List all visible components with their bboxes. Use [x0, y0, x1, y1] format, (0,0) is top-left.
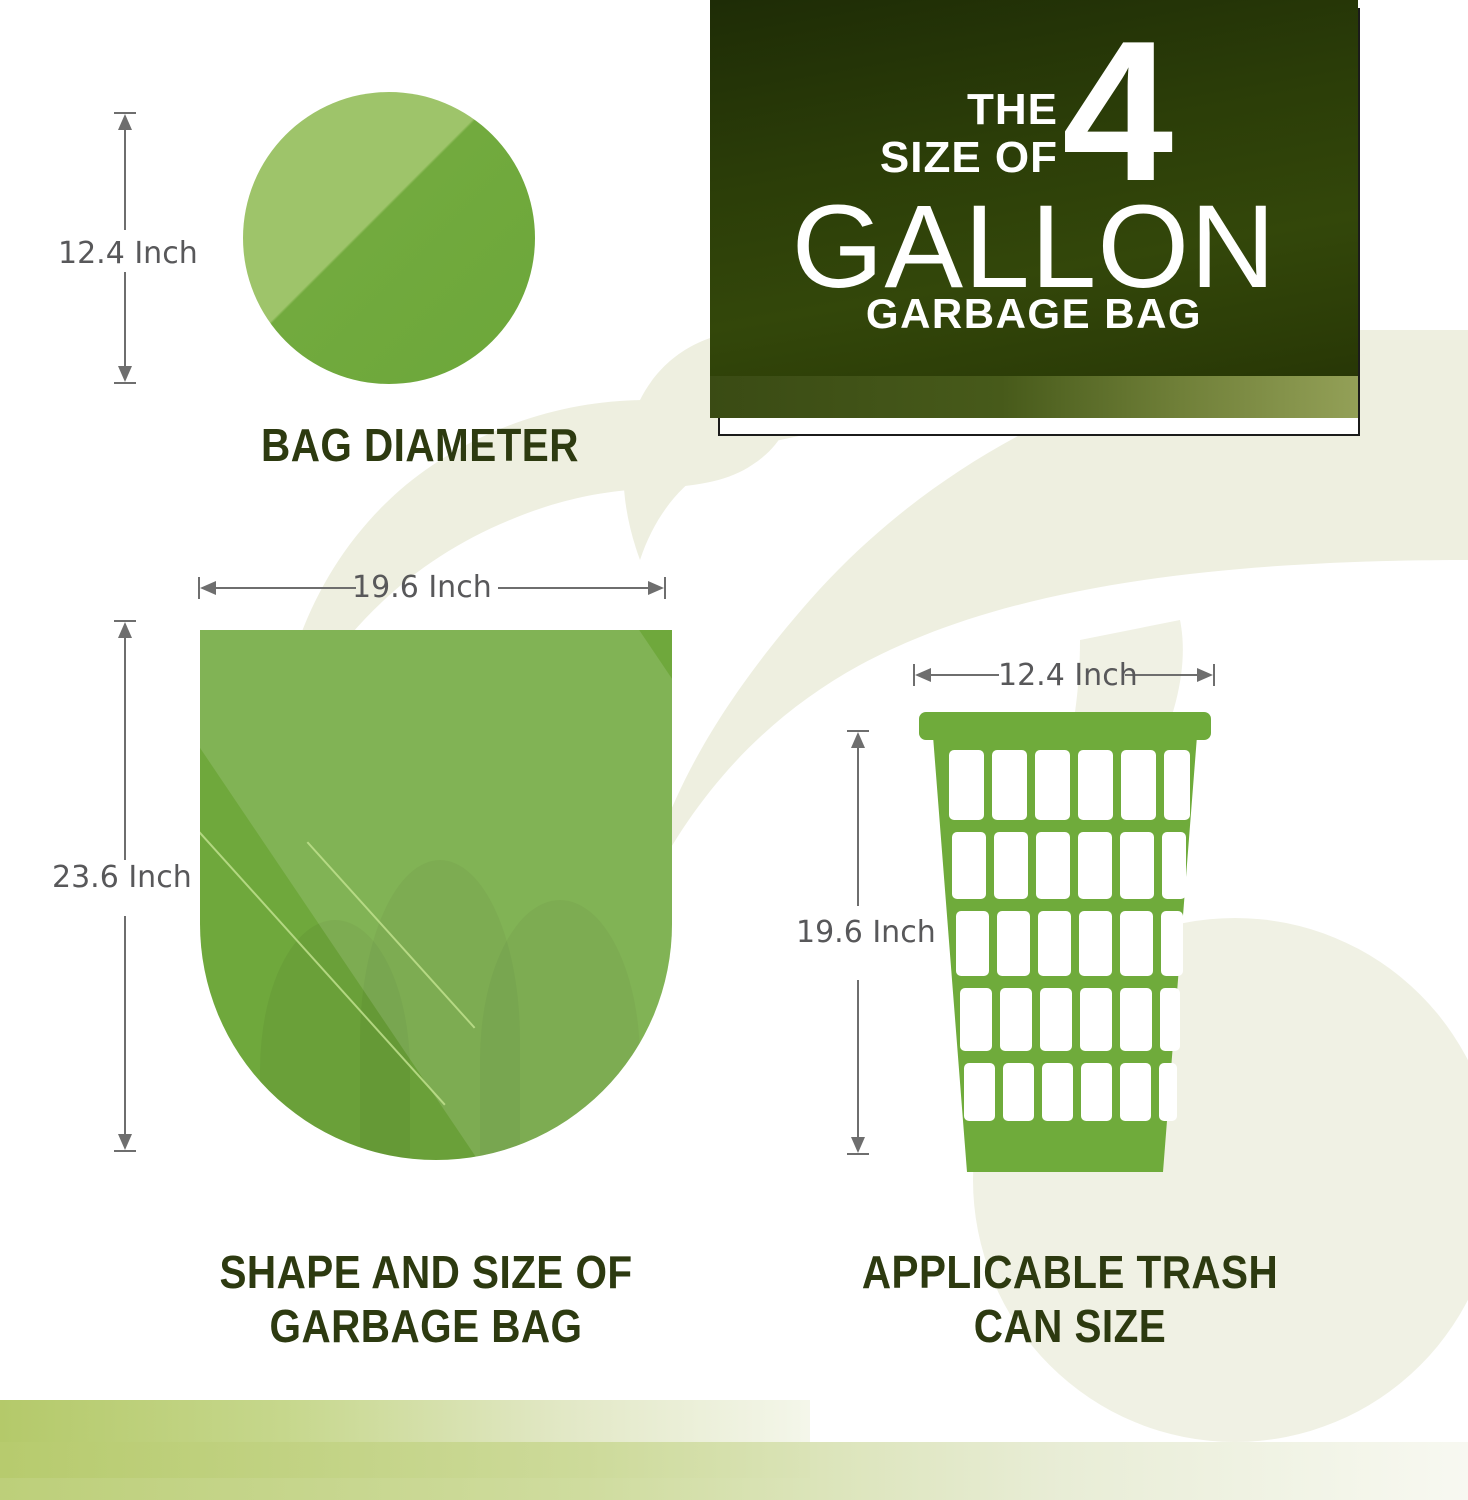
header-text-block: THE SIZE OF 4 GALLON GARBAGE BAG: [710, 0, 1358, 376]
bag-width-dimension-label: 19.6 Inch: [352, 570, 492, 605]
bag-diameter-dimension-label: 12.4 Inch: [58, 236, 198, 271]
trash-can-caption: APPLICABLE TRASH CAN SIZE: [824, 1245, 1317, 1354]
trash-can-body: [915, 736, 1215, 1172]
header-the-label: THE: [870, 88, 1058, 132]
header-bottom-gradient-strip: [710, 376, 1358, 418]
infographic-page: 12.4 Inch BAG DIAMETER 19.6 Inch 23.6 In…: [0, 0, 1468, 1500]
bag-diameter-caption: BAG DIAMETER: [156, 418, 684, 472]
trash-can-icon: [915, 712, 1215, 1172]
garbage-bag-caption-line1: SHAPE AND SIZE OF: [136, 1245, 717, 1299]
header-gallon-title: GALLON: [710, 188, 1358, 306]
header-garbage-bag-subtitle: GARBAGE BAG: [710, 290, 1358, 338]
bottom-gradient-bar-lower: [0, 1442, 1468, 1500]
trash-can-caption-line2: CAN SIZE: [824, 1299, 1317, 1353]
header-size-of-label: SIZE OF: [870, 136, 1058, 180]
trash-can-caption-line1: APPLICABLE TRASH: [824, 1245, 1317, 1299]
header-the-size-of: THE SIZE OF: [870, 88, 1058, 180]
bag-diameter-circle: [243, 92, 535, 384]
can-width-dimension-label: 12.4 Inch: [998, 658, 1138, 693]
garbage-bag-caption: SHAPE AND SIZE OF GARBAGE BAG: [136, 1245, 717, 1354]
garbage-bag-caption-line2: GARBAGE BAG: [136, 1299, 717, 1353]
header-banner: THE SIZE OF 4 GALLON GARBAGE BAG: [710, 0, 1358, 418]
bag-height-dimension-label: 23.6 Inch: [52, 860, 192, 895]
garbage-bag-shape: [200, 630, 672, 1160]
